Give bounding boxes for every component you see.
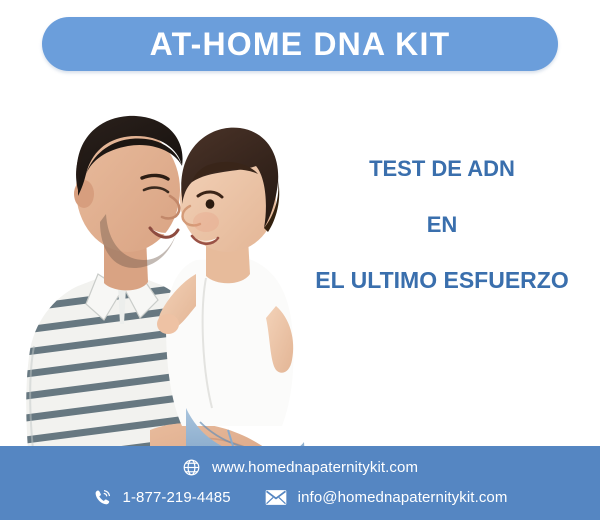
- header-banner: AT-HOME DNA KIT: [42, 17, 558, 71]
- page-title: AT-HOME DNA KIT: [150, 28, 451, 60]
- headline-line-1: TEST DE ADN: [296, 158, 588, 180]
- envelope-icon: [265, 489, 287, 506]
- phone-number[interactable]: 1-877-219-4485: [123, 489, 231, 506]
- headline-line-2: EN: [296, 214, 588, 236]
- father-holding-toddler-photo: [0, 78, 310, 474]
- website-url[interactable]: www.homednapaternitykit.com: [212, 459, 418, 476]
- headline-line-3: EL ULTIMO ESFUERZO: [296, 269, 588, 292]
- poster-canvas: AT-HOME DNA KIT: [0, 0, 600, 520]
- footer-contact-row: 1-877-219-4485 info@homednapaternitykit.…: [0, 488, 600, 507]
- footer-contact-bar: www.homednapaternitykit.com 1-877-219-44…: [0, 446, 600, 520]
- email-address[interactable]: info@homednapaternitykit.com: [298, 489, 508, 506]
- globe-icon: [182, 458, 201, 477]
- phone-icon: [93, 488, 112, 507]
- footer-website-row: www.homednapaternitykit.com: [0, 458, 600, 477]
- headline-block: TEST DE ADN EN EL ULTIMO ESFUERZO: [296, 158, 588, 292]
